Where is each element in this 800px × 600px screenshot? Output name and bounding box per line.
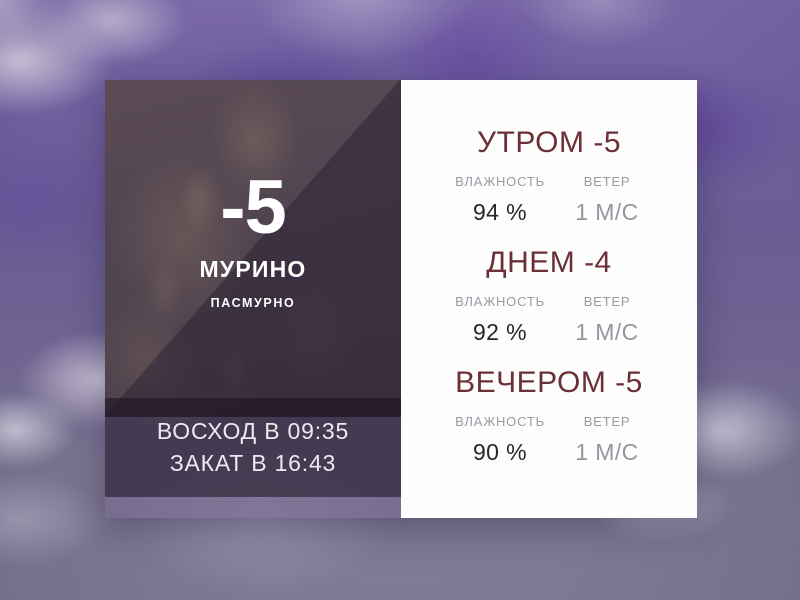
humidity-value: 94 % bbox=[473, 201, 527, 224]
city-name: МУРИНО bbox=[199, 258, 306, 281]
forecast-metrics-row: ВЛАЖНОСТЬ 90 % ВЕТЕР 1 М/С bbox=[442, 415, 656, 464]
humidity-label: ВЛАЖНОСТЬ bbox=[455, 415, 545, 428]
forecast-metrics-row: ВЛАЖНОСТЬ 94 % ВЕТЕР 1 М/С bbox=[442, 175, 656, 224]
current-weather-panel: -5 МУРИНО ПАСМУРНО ВОСХОД В 09:35 ЗАКАТ … bbox=[105, 80, 401, 518]
forecast-block-day: ДНЕМ -4 ВЛАЖНОСТЬ 92 % ВЕТЕР 1 М/С bbox=[401, 248, 697, 344]
sunrise-text: ВОСХОД В 09:35 bbox=[157, 416, 349, 447]
forecast-block-evening: ВЕЧЕРОМ -5 ВЛАЖНОСТЬ 90 % ВЕТЕР 1 М/С bbox=[401, 368, 697, 464]
humidity-cell: ВЛАЖНОСТЬ 90 % bbox=[442, 415, 558, 464]
forecast-title: УТРОМ -5 bbox=[477, 128, 621, 158]
card-footer: СРЕДА, 21 ЯНВАРЯ VK.RU/CLUB202933235 bbox=[105, 497, 401, 518]
humidity-label: ВЛАЖНОСТЬ bbox=[455, 175, 545, 188]
humidity-value: 92 % bbox=[473, 321, 527, 344]
wind-label: ВЕТЕР bbox=[584, 415, 631, 428]
wind-value: 1 М/С bbox=[575, 441, 638, 464]
humidity-label: ВЛАЖНОСТЬ bbox=[455, 295, 545, 308]
wind-cell: ВЕТЕР 1 М/С bbox=[558, 295, 656, 344]
wind-cell: ВЕТЕР 1 М/С bbox=[558, 175, 656, 224]
current-temperature: -5 bbox=[220, 170, 286, 246]
sunrise-sunset-panel: ВОСХОД В 09:35 ЗАКАТ В 16:43 bbox=[105, 398, 401, 497]
current-temperature-block: -5 МУРИНО ПАСМУРНО bbox=[105, 80, 401, 317]
forecast-title: ВЕЧЕРОМ -5 bbox=[455, 368, 643, 398]
forecast-title: ДНЕМ -4 bbox=[486, 248, 612, 278]
wind-cell: ВЕТЕР 1 М/С bbox=[558, 415, 656, 464]
humidity-cell: ВЛАЖНОСТЬ 94 % bbox=[442, 175, 558, 224]
humidity-value: 90 % bbox=[473, 441, 527, 464]
sunset-text: ЗАКАТ В 16:43 bbox=[170, 448, 336, 479]
weather-card: -5 МУРИНО ПАСМУРНО ВОСХОД В 09:35 ЗАКАТ … bbox=[105, 80, 697, 518]
humidity-cell: ВЛАЖНОСТЬ 92 % bbox=[442, 295, 558, 344]
weather-condition: ПАСМУРНО bbox=[211, 297, 296, 310]
forecast-panel: УТРОМ -5 ВЛАЖНОСТЬ 94 % ВЕТЕР 1 М/С ДНЕМ… bbox=[401, 80, 697, 518]
weather-widget-screen: -5 МУРИНО ПАСМУРНО ВОСХОД В 09:35 ЗАКАТ … bbox=[0, 0, 800, 600]
wind-value: 1 М/С bbox=[575, 321, 638, 344]
wind-label: ВЕТЕР bbox=[584, 295, 631, 308]
wind-value: 1 М/С bbox=[575, 201, 638, 224]
forecast-block-morning: УТРОМ -5 ВЛАЖНОСТЬ 94 % ВЕТЕР 1 М/С bbox=[401, 128, 697, 224]
wind-label: ВЕТЕР bbox=[584, 175, 631, 188]
forecast-metrics-row: ВЛАЖНОСТЬ 92 % ВЕТЕР 1 М/С bbox=[442, 295, 656, 344]
